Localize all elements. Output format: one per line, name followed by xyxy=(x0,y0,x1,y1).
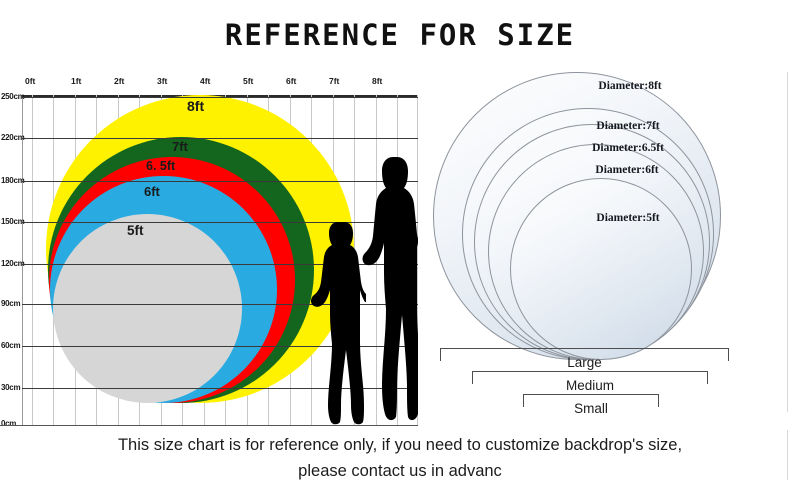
disc-label-8ft: Diameter:8ft xyxy=(555,80,705,92)
diameter-disc-diagram: Diameter:8ft Diameter:7ft Diameter:6.5ft… xyxy=(430,60,740,360)
size-reference-chart: REFERENCE FOR SIZE 250cm 220cm 180cm 150… xyxy=(0,0,800,488)
x-tick-4ft: 4ft xyxy=(200,76,210,86)
circle-label-7ft: 7ft xyxy=(172,139,188,154)
x-tick-0ft: 0ft xyxy=(25,76,35,86)
hgrid-250cm xyxy=(22,97,418,98)
circle-label-6p5ft: 6. 5ft xyxy=(146,159,175,173)
caption-line-1: This size chart is for reference only, i… xyxy=(0,432,800,458)
y-tick-0cm: 0cm xyxy=(1,419,16,428)
hgrid-180cm xyxy=(22,181,418,182)
bracket-label-small: Small xyxy=(523,401,659,416)
disc-label-7ft: Diameter:7ft xyxy=(553,120,703,132)
disc-label-5ft: Diameter:5ft xyxy=(553,212,703,224)
y-tick-150cm: 150cm xyxy=(1,217,24,226)
size-circle-5ft xyxy=(53,214,242,403)
vgrid-line xyxy=(32,95,33,425)
bracket-label-medium: Medium xyxy=(472,378,708,393)
adult-woman-silhouette xyxy=(362,155,418,423)
x-tick-7ft: 7ft xyxy=(329,76,339,86)
x-tick-5ft: 5ft xyxy=(243,76,253,86)
disc-label-6ft: Diameter:6ft xyxy=(552,164,702,176)
bracket-label-large: Large xyxy=(440,355,729,370)
disc-5ft xyxy=(510,178,692,360)
x-tick-6ft: 6ft xyxy=(286,76,296,86)
circle-label-8ft: 8ft xyxy=(187,98,204,114)
caption-line-2: please contact us in advanc xyxy=(0,458,800,484)
x-tick-8ft: 8ft xyxy=(372,76,382,86)
right-edge-rule xyxy=(787,72,788,412)
y-tick-30cm: 30cm xyxy=(1,383,20,392)
child-silhouette xyxy=(310,220,366,425)
y-tick-250cm: 250cm xyxy=(1,92,24,101)
x-tick-2ft: 2ft xyxy=(114,76,124,86)
y-tick-90cm: 90cm xyxy=(1,299,20,308)
y-tick-220cm: 220cm xyxy=(1,133,24,142)
x-tick-3ft: 3ft xyxy=(157,76,167,86)
caption: This size chart is for reference only, i… xyxy=(0,432,800,484)
hgrid-220cm xyxy=(22,138,418,139)
chart-plot-area: 8ft 7ft 6. 5ft 6ft 5ft xyxy=(22,95,418,425)
chart-baseline-0cm xyxy=(0,425,418,426)
disc-label-6p5ft: Diameter:6.5ft xyxy=(552,142,704,154)
y-tick-180cm: 180cm xyxy=(1,176,24,185)
x-tick-1ft: 1ft xyxy=(71,76,81,86)
circle-label-5ft: 5ft xyxy=(127,223,144,238)
y-tick-120cm: 120cm xyxy=(1,259,24,268)
y-tick-60cm: 60cm xyxy=(1,341,20,350)
page-title: REFERENCE FOR SIZE xyxy=(0,18,800,52)
circle-label-6ft: 6ft xyxy=(144,184,160,199)
